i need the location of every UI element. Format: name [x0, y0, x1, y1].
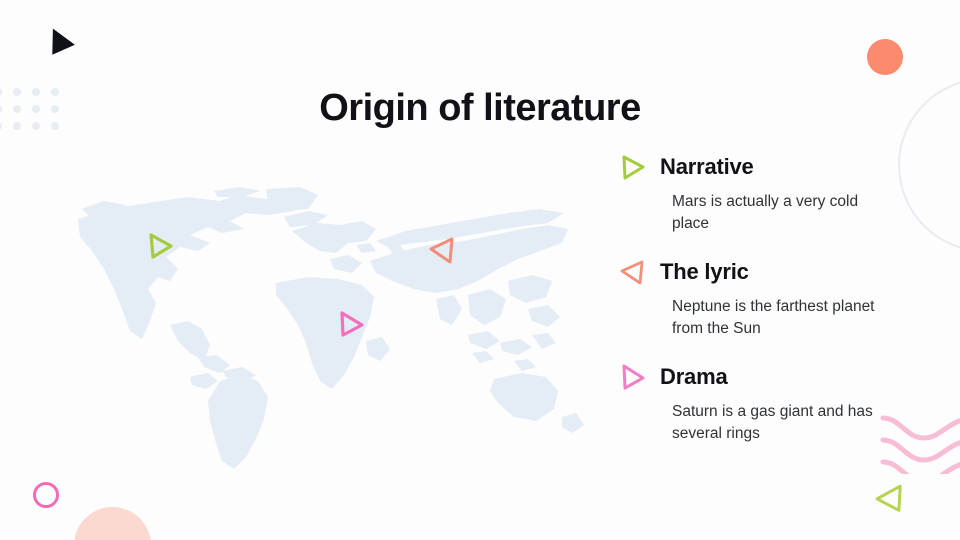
- circle-filled-coral: [867, 39, 903, 75]
- list-item-body: Neptune is the farthest planet from the …: [672, 296, 882, 340]
- triangle-right-outline-icon: [618, 153, 646, 181]
- map-marker-north-america: [144, 231, 174, 261]
- list-item-header: Drama: [618, 362, 928, 392]
- page-title: Origin of literature: [0, 87, 960, 130]
- list-item: The lyric Neptune is the farthest planet…: [618, 257, 928, 340]
- list-item: Narrative Mars is actually a very cold p…: [618, 152, 928, 235]
- slide-canvas: Origin of literature Narrative Mars is a…: [0, 0, 960, 540]
- world-map: [70, 185, 595, 470]
- list-item-title: Drama: [660, 366, 727, 388]
- triangle-left-outline-green-icon: [872, 481, 906, 515]
- triangle-play-black-icon: [45, 26, 79, 60]
- triangle-right-outline-icon: [618, 363, 646, 391]
- feature-list: Narrative Mars is actually a very cold p…: [618, 152, 928, 461]
- circle-outline-pink-small: [33, 482, 59, 508]
- list-item-header: Narrative: [618, 152, 928, 182]
- list-item: Drama Saturn is a gas giant and has seve…: [618, 362, 928, 445]
- map-marker-africa: [335, 309, 365, 339]
- circle-filled-pink-large: [74, 507, 151, 540]
- list-item-title: The lyric: [660, 261, 749, 283]
- list-item-body: Saturn is a gas giant and has several ri…: [672, 401, 882, 445]
- map-marker-asia: [427, 235, 457, 265]
- list-item-title: Narrative: [660, 156, 754, 178]
- list-item-header: The lyric: [618, 257, 928, 287]
- triangle-left-outline-icon: [618, 258, 646, 286]
- list-item-body: Mars is actually a very cold place: [672, 191, 882, 235]
